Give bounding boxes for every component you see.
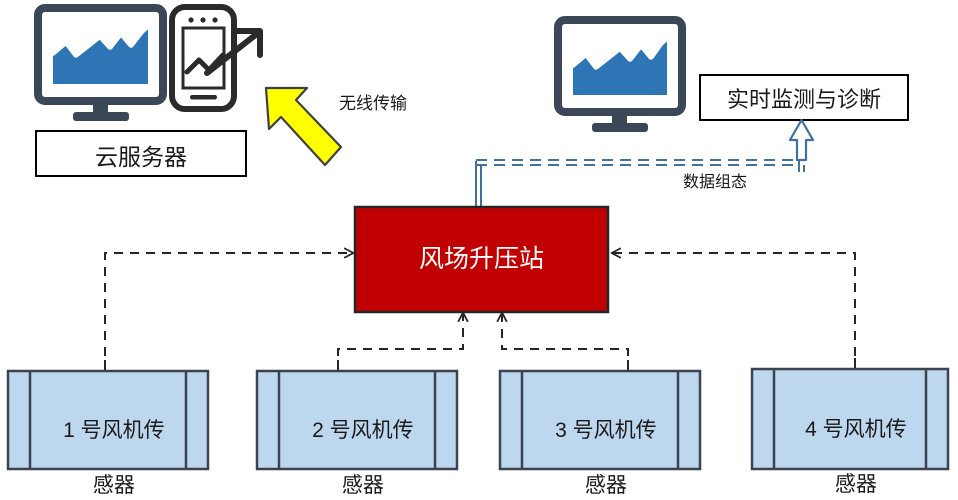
data-config-label: 数据组态 [660,172,770,193]
sensor-4-label-line1: 4 号风机传 [805,418,907,441]
sensor-1-label-line2: 感器 [93,474,135,497]
monitor-chart-icon [558,20,682,132]
sensor-4-label: 4 号风机传 感器 [774,388,926,499]
wireless-transmission-label: 无线传输 [318,93,428,115]
sensor-1-label-line1: 1 号风机传 [63,419,165,442]
substation-label: 风场升压站 [355,243,608,276]
diagram-canvas: 云服务器 无线传输 实时监测与诊断 数据组态 风场升压站 1 号风机传 感器 2… [0,0,958,474]
data-config-connector [476,120,813,212]
sensor-2-label-line2: 感器 [342,474,384,497]
monitoring-label: 实时监测与诊断 [700,85,908,114]
smartphone-growth-icon [172,7,260,109]
sensor-4-label-line2: 感器 [835,473,877,496]
sensor-2-label-line1: 2 号风机传 [312,419,414,442]
monitor-chart-icon [38,8,163,121]
sensor-1-label: 1 号风机传 感器 [30,389,186,500]
sensor-3-label: 3 号风机传 感器 [522,389,678,500]
sensor-3-label-line2: 感器 [585,474,627,497]
sensor-2-label: 2 号风机传 感器 [279,389,435,500]
sensor-3-label-line1: 3 号风机传 [555,419,657,442]
cloud-server-label: 云服务器 [36,142,246,172]
sensor-stub-ticks [105,358,855,372]
